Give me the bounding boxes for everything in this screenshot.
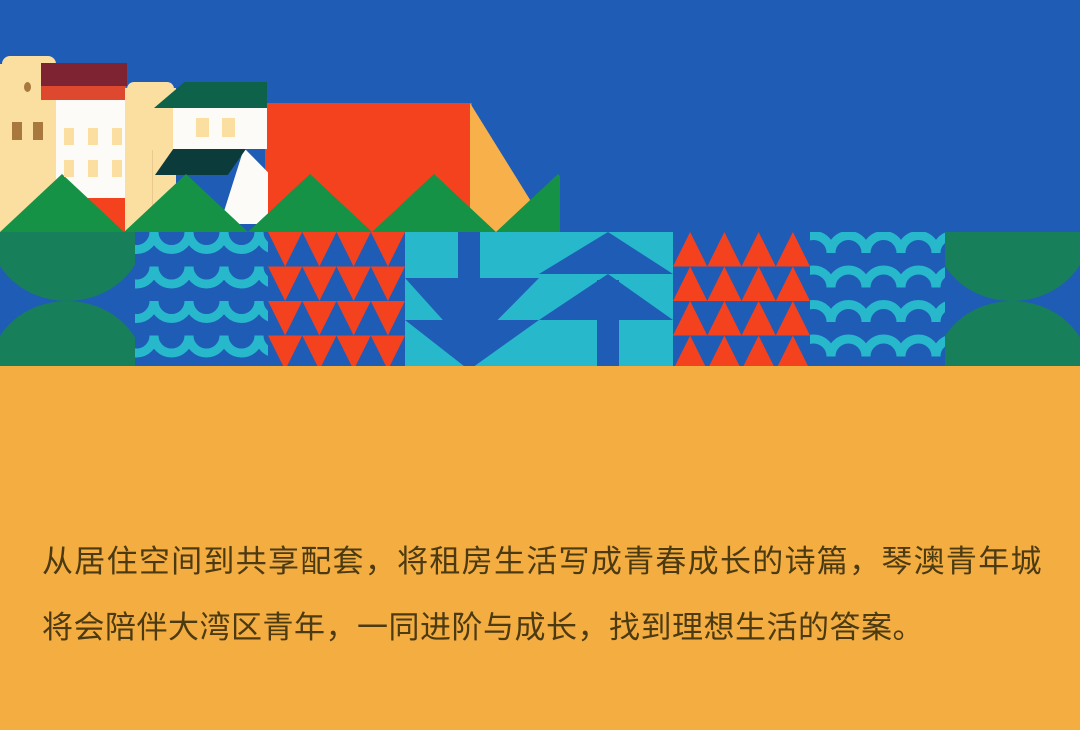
wave-scallop-up-icon xyxy=(810,232,945,370)
white-house-dark-roof xyxy=(41,63,127,86)
village-skyline xyxy=(0,0,1080,232)
hero-illustration xyxy=(0,0,1080,370)
caption-paragraph: 从居住空间到共享配套，将租房生活写成青春成长的诗篇，琴澳青年城将会陪伴大湾区青年… xyxy=(42,529,1042,661)
white-house-window xyxy=(88,128,98,145)
arrow-down-up-icon xyxy=(405,232,673,370)
white-house-window xyxy=(64,160,74,177)
green-roof-house-facade xyxy=(173,108,267,149)
caption-section: 从居住空间到共享配套，将租房生活写成青春成长的诗篇，琴澳青年城将会陪伴大湾区青年… xyxy=(0,370,1080,730)
tall-house-window xyxy=(12,122,22,140)
panel-cyan-waves-right xyxy=(810,232,945,370)
panel-green-bowls-right xyxy=(945,232,1080,370)
panel-cyan-waves-left xyxy=(135,232,268,370)
panel-red-triangles-up xyxy=(673,232,810,370)
white-house-window xyxy=(88,160,98,177)
white-house-window xyxy=(112,128,122,145)
panel-arrows-down-up xyxy=(405,232,673,370)
green-roof-house-window xyxy=(222,118,235,137)
white-house-window xyxy=(64,128,74,145)
illustration-card: 从居住空间到共享配套，将租房生活写成青春成长的诗篇，琴澳青年城将会陪伴大湾区青年… xyxy=(0,0,1080,730)
white-house-window xyxy=(112,160,122,177)
attic-vent-icon xyxy=(24,82,31,92)
panel-green-bowls-left xyxy=(0,232,135,370)
triangle-down-pattern-icon xyxy=(268,232,405,370)
green-hedge-sawtooth xyxy=(0,170,560,232)
wave-scallop-down-icon xyxy=(135,232,268,370)
cream-tower-gable-top xyxy=(127,82,174,94)
white-house-window xyxy=(136,160,146,177)
white-house-red-roof xyxy=(41,86,138,100)
semicircle-bowls-icon xyxy=(945,232,1080,370)
green-roof-house-window xyxy=(196,118,209,137)
panel-red-triangles-down xyxy=(268,232,405,370)
white-house-window xyxy=(136,128,146,145)
semicircle-bowls-icon xyxy=(0,232,135,370)
decorative-panel-strip xyxy=(0,232,1080,370)
tall-house-window xyxy=(33,122,43,140)
triangle-up-pattern-icon xyxy=(673,232,810,370)
